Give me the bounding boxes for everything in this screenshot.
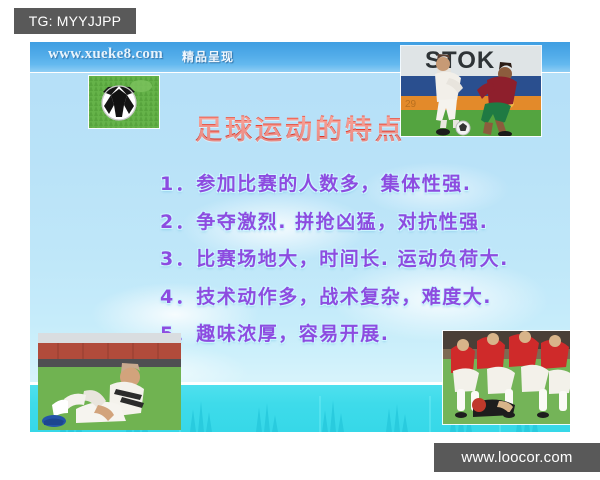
list-item: 4．技术动作多，战术复杂，难度大. bbox=[138, 279, 558, 317]
bullet-number: 3． bbox=[160, 248, 196, 270]
list-item: 3．比赛场地大，时间长. 运动负荷大. bbox=[138, 241, 558, 279]
page-margin-left bbox=[0, 0, 30, 480]
bullet-number: 1． bbox=[160, 173, 196, 195]
players-pileup-image bbox=[442, 330, 570, 425]
banner-website-url: www.xueke8.com bbox=[48, 46, 163, 63]
bullet-number: 2． bbox=[160, 211, 196, 233]
banner-tagline: 精品呈现 bbox=[182, 48, 234, 65]
list-item: 1．参加比赛的人数多，集体性强. bbox=[138, 166, 558, 204]
page-margin-right bbox=[570, 0, 600, 480]
bullet-number: 4． bbox=[160, 286, 196, 308]
injured-player-image bbox=[38, 333, 181, 430]
bullet-text: 参加比赛的人数多，集体性强. bbox=[196, 173, 471, 195]
presentation-slide: www.xueke8.com 精品呈现 足球运动的特点 1．参加比赛的人数多，集… bbox=[30, 42, 570, 432]
soccer-ball-image bbox=[88, 75, 160, 129]
bullet-list: 1．参加比赛的人数多，集体性强. 2．争夺激烈. 拼抢凶猛，对抗性强. 3．比赛… bbox=[138, 166, 558, 354]
bullet-text: 比赛场地大，时间长. 运动负荷大. bbox=[196, 248, 509, 270]
list-item: 2．争夺激烈. 拼抢凶猛，对抗性强. bbox=[138, 204, 558, 242]
bullet-text: 技术动作多，战术复杂，难度大. bbox=[196, 286, 492, 308]
svg-text:29: 29 bbox=[405, 99, 417, 110]
svg-text:STOK: STOK bbox=[425, 47, 495, 74]
watermark-top-left: TG: MYYJJPP bbox=[14, 8, 136, 34]
players-duel-image: STOK 29 bbox=[400, 45, 542, 137]
bullet-text: 争夺激烈. 拼抢凶猛，对抗性强. bbox=[196, 211, 488, 233]
bullet-text: 趣味浓厚，容易开展. bbox=[196, 323, 389, 345]
watermark-bottom-right: www.loocor.com bbox=[434, 443, 600, 472]
